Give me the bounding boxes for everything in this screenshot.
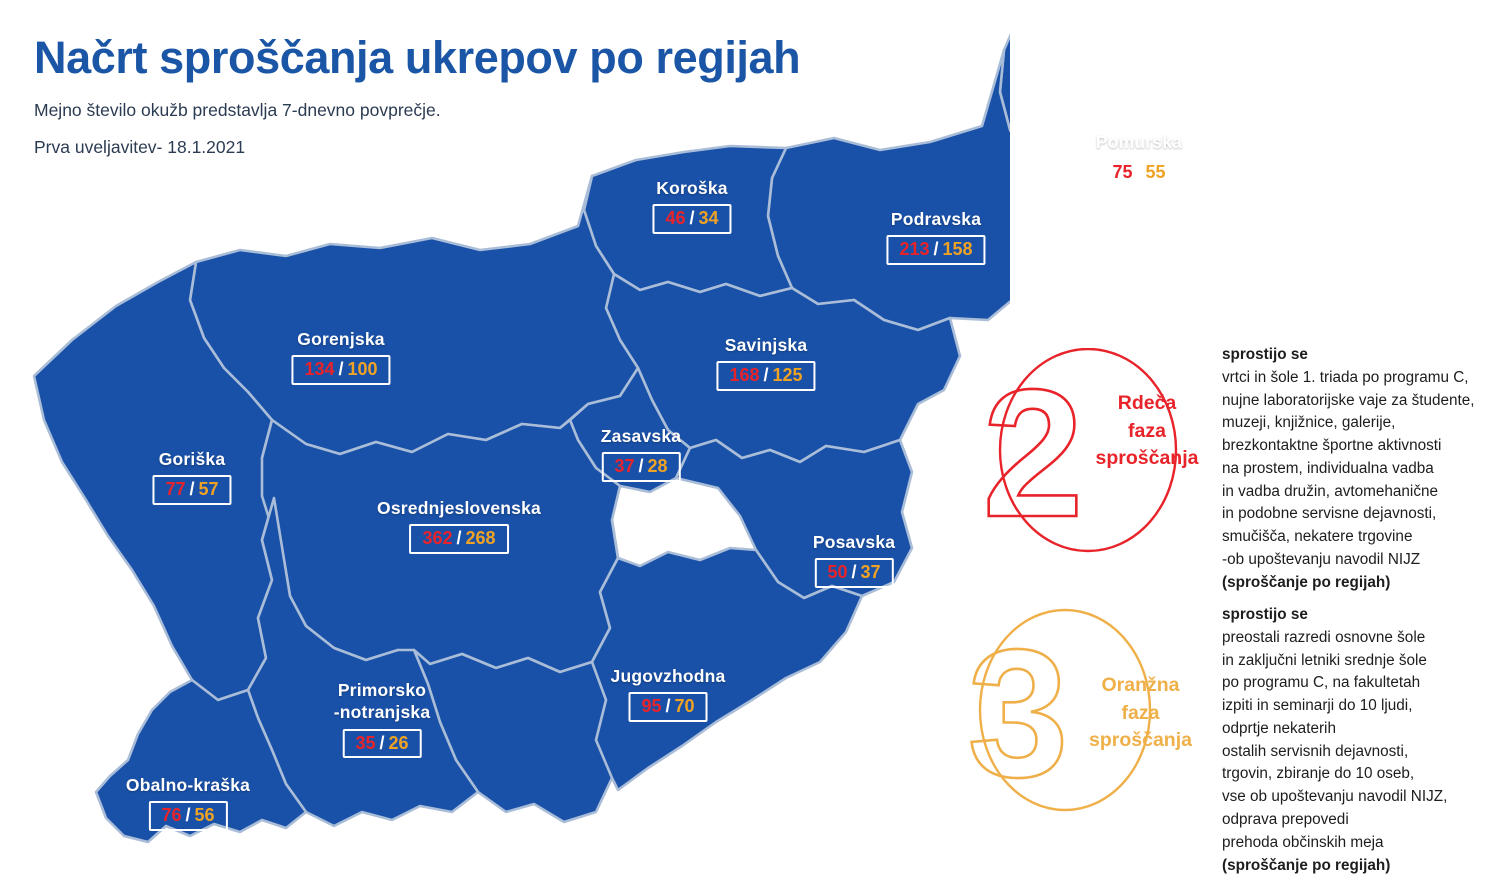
region-red-value-gorenjska: 134 xyxy=(304,359,334,379)
region-red-value-obalno-kraska: 76 xyxy=(161,805,181,825)
region-label-osrednjeslovenska[interactable]: Osrednjeslovenska 362/268 xyxy=(377,497,541,554)
region-orange-value-posavska: 37 xyxy=(861,562,881,582)
region-name-pomurska: Pomurska xyxy=(1096,131,1182,153)
region-label-gorenjska[interactable]: Gorenjska 134/100 xyxy=(291,328,390,385)
value-separator: / xyxy=(375,733,388,753)
region-name-primorsko-notranjska-line2: -notranjska xyxy=(334,701,431,723)
region-orange-value-savinjska: 125 xyxy=(773,365,803,385)
phase-2-words: Rdeča faza sproščanja xyxy=(1082,390,1212,473)
region-label-jugovzhodna[interactable]: Jugovzhodna 95/70 xyxy=(611,665,726,722)
region-red-value-savinjska: 168 xyxy=(729,365,759,385)
phase-2-line-0: vrtci in šole 1. triada po programu C, xyxy=(1222,367,1500,390)
phase-2-line-5: in vadba družin, avtomehanične xyxy=(1222,481,1500,504)
region-red-value-primorsko-notranjska: 35 xyxy=(355,733,375,753)
phase-3-line-4: odprtje nekaterih xyxy=(1222,718,1500,741)
phase-3-tail: (sproščanje po regijah) xyxy=(1222,855,1500,877)
phase-2-line-7: smučišča, nekatere trgovine xyxy=(1222,526,1500,549)
phase-3-words: Oranžna faza sproščanja xyxy=(1068,672,1213,755)
region-red-value-posavska: 50 xyxy=(827,562,847,582)
region-values-savinjska: 168/125 xyxy=(716,361,815,391)
region-values-zasavska: 37/28 xyxy=(601,452,680,482)
phase-3-description: sprostijo se preostali razredi osnovne š… xyxy=(1222,604,1500,877)
region-orange-value-obalno-kraska: 56 xyxy=(195,805,215,825)
region-values-primorsko-notranjska: 35/26 xyxy=(342,729,421,759)
region-orange-value-jugovzhodna: 70 xyxy=(675,696,695,716)
region-red-value-jugovzhodna: 95 xyxy=(641,696,661,716)
region-name-savinjska: Savinjska xyxy=(716,334,815,356)
phase-2-number-outline: 2 xyxy=(985,351,1084,553)
value-separator: / xyxy=(634,456,647,476)
phase-3-line-9: prehoda občinskih meja xyxy=(1222,832,1500,855)
phase-3-word-line3: sproščanja xyxy=(1068,727,1213,755)
region-name-primorsko-notranjska-line1: Primorsko xyxy=(334,679,431,701)
region-orange-value-pomurska: 55 xyxy=(1146,162,1166,182)
region-values-pomurska: 75/55 xyxy=(1099,158,1178,188)
region-red-value-pomurska: 75 xyxy=(1112,162,1132,182)
phase-2-line-8: -ob upoštevanju navodil NIJZ xyxy=(1222,549,1500,572)
region-values-koroska: 46/34 xyxy=(652,204,731,234)
region-red-value-koroska: 46 xyxy=(665,208,685,228)
phase-2-line-2: muzeji, knjižnice, galerije, xyxy=(1222,412,1500,435)
phase-3-line-2: po programu C, na fakultetah xyxy=(1222,672,1500,695)
phase-3-line-6: trgovin, zbiranje do 10 oseb, xyxy=(1222,763,1500,786)
region-name-osrednjeslovenska: Osrednjeslovenska xyxy=(377,497,541,519)
phase-2-tail: (sproščanje po regijah) xyxy=(1222,572,1500,595)
value-separator: / xyxy=(685,208,698,228)
phase-3-lead: sprostijo se xyxy=(1222,604,1500,627)
region-values-gorenjska: 134/100 xyxy=(291,355,390,385)
phase-3-word-line1: Oranžna xyxy=(1068,672,1213,700)
region-label-obalno-kraska[interactable]: Obalno-kraška 76/56 xyxy=(126,774,250,831)
phase-3-line-8: odprava prepovedi xyxy=(1222,809,1500,832)
region-red-value-podravska: 213 xyxy=(899,239,929,259)
value-separator: / xyxy=(334,359,347,379)
region-label-posavska[interactable]: Posavska 50/37 xyxy=(813,531,895,588)
region-label-zasavska[interactable]: Zasavska 37/28 xyxy=(601,425,681,482)
region-red-value-zasavska: 37 xyxy=(614,456,634,476)
region-orange-value-zasavska: 28 xyxy=(648,456,668,476)
value-separator: / xyxy=(452,528,465,548)
region-name-zasavska: Zasavska xyxy=(601,425,681,447)
region-values-osrednjeslovenska: 362/268 xyxy=(409,524,508,554)
region-name-posavska: Posavska xyxy=(813,531,895,553)
phase-2-line-3: brezkontaktne športne aktivnosti xyxy=(1222,435,1500,458)
value-separator: / xyxy=(847,562,860,582)
phase-3-word-line2: faza xyxy=(1068,700,1213,728)
region-name-gorenjska: Gorenjska xyxy=(291,328,390,350)
phase-3-line-5: ostalih servisnih dejavnosti, xyxy=(1222,741,1500,764)
phase-3-line-1: in zaključni letniki srednje šole xyxy=(1222,650,1500,673)
region-name-obalno-kraska: Obalno-kraška xyxy=(126,774,250,796)
phase-2-word-line2: faza xyxy=(1082,418,1212,446)
value-separator: / xyxy=(661,696,674,716)
region-orange-value-koroska: 34 xyxy=(699,208,719,228)
phase-3-number-outline: 3 xyxy=(967,611,1068,813)
region-orange-value-podravska: 158 xyxy=(943,239,973,259)
phase-2-word-line1: Rdeča xyxy=(1082,390,1212,418)
phase-2-description: sprostijo se vrtci in šole 1. triada po … xyxy=(1222,344,1500,595)
region-red-value-osrednjeslovenska: 362 xyxy=(422,528,452,548)
region-red-value-goriska: 77 xyxy=(165,479,185,499)
region-name-goriska: Goriška xyxy=(152,448,231,470)
region-values-jugovzhodna: 95/70 xyxy=(628,692,707,722)
value-separator: / xyxy=(929,239,942,259)
region-orange-value-goriska: 57 xyxy=(199,479,219,499)
page-title: Načrt sproščanja ukrepov po regijah xyxy=(34,34,954,81)
region-orange-value-gorenjska: 100 xyxy=(348,359,378,379)
region-label-savinjska[interactable]: Savinjska 168/125 xyxy=(716,334,815,391)
phase-3-line-0: preostali razredi osnovne šole xyxy=(1222,627,1500,650)
region-values-goriska: 77/57 xyxy=(152,475,231,505)
region-label-goriska[interactable]: Goriška 77/57 xyxy=(152,448,231,505)
region-label-koroska[interactable]: Koroška 46/34 xyxy=(652,177,731,234)
region-values-podravska: 213/158 xyxy=(886,235,985,265)
phase-2-line-1: nujne laboratorijske vaje za študente, xyxy=(1222,390,1500,413)
header: Načrt sproščanja ukrepov po regijah Mejn… xyxy=(34,34,954,170)
value-separator: / xyxy=(181,805,194,825)
subtitle-effective-date: Prva uveljavitev- 18.1.2021 xyxy=(34,134,954,160)
phase-2-lead: sprostijo se xyxy=(1222,344,1500,367)
region-orange-value-primorsko-notranjska: 26 xyxy=(389,733,409,753)
region-values-obalno-kraska: 76/56 xyxy=(148,801,227,831)
subtitle-threshold-note: Mejno število okužb predstavlja 7-dnevno… xyxy=(34,97,954,123)
region-label-pomurska[interactable]: Pomurska 75/55 xyxy=(1096,131,1182,188)
region-name-podravska: Podravska xyxy=(886,208,985,230)
phase-2-word-line3: sproščanja xyxy=(1082,445,1212,473)
region-name-jugovzhodna: Jugovzhodna xyxy=(611,665,726,687)
region-name-koroska: Koroška xyxy=(652,177,731,199)
region-label-podravska[interactable]: Podravska 213/158 xyxy=(886,208,985,265)
phase-2-line-4: na prostem, individualna vadba xyxy=(1222,458,1500,481)
region-values-posavska: 50/37 xyxy=(814,558,893,588)
value-separator: / xyxy=(759,365,772,385)
value-separator: / xyxy=(185,479,198,499)
phase-2-line-6: in podobne servisne dejavnosti, xyxy=(1222,503,1500,526)
region-orange-value-osrednjeslovenska: 268 xyxy=(466,528,496,548)
region-label-primorsko-notranjska[interactable]: Primorsko -notranjska 35/26 xyxy=(334,679,431,758)
phase-3-line-3: izpiti in seminarji do 10 ljudi, xyxy=(1222,695,1500,718)
phase-3-line-7: vse ob upoštevanju navodil NIJZ, xyxy=(1222,786,1500,809)
value-separator: / xyxy=(1132,162,1145,182)
